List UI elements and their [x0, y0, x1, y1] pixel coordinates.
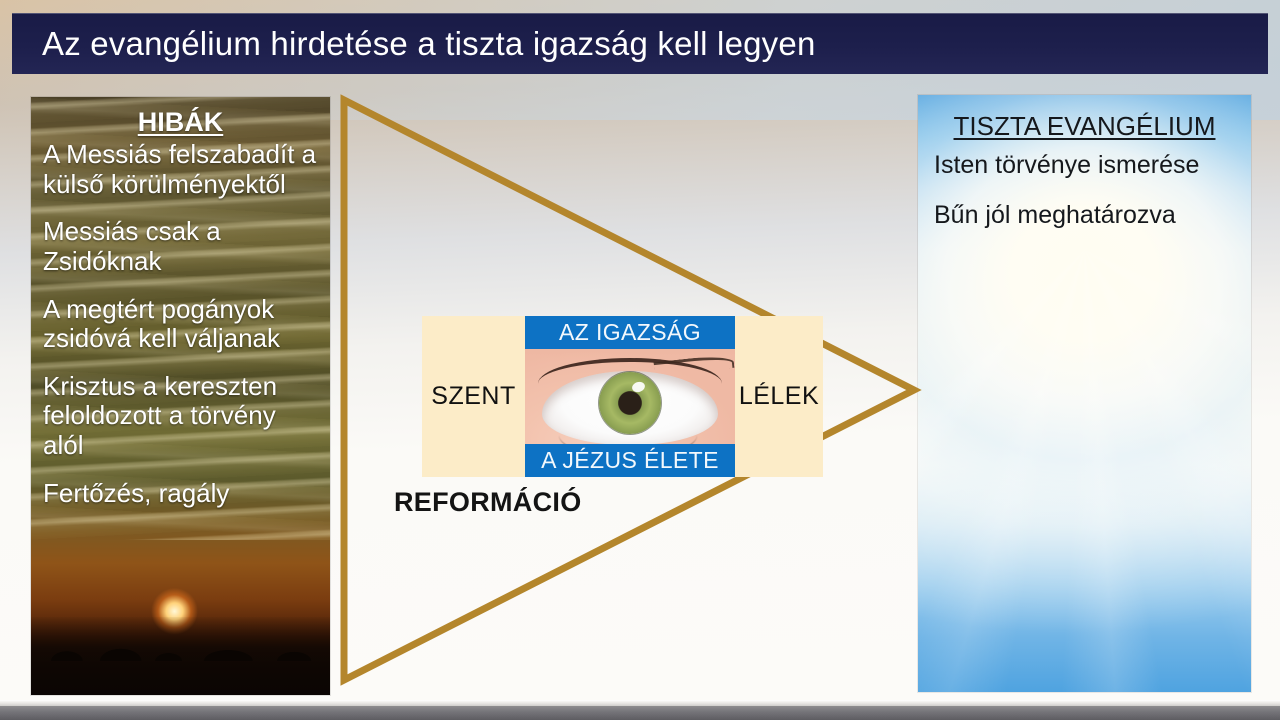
errors-panel-content: HIBÁK A Messiás felszabadít a külső körü…	[31, 97, 330, 695]
errors-item: A Messiás felszabadít a külső körülménye…	[43, 140, 320, 199]
banner-az-igazsag: AZ IGAZSÁG	[525, 316, 735, 349]
errors-item: Fertőzés, ragály	[43, 479, 320, 509]
pure-gospel-panel-content: TISZTA EVANGÉLIUM Isten törvénye ismerés…	[918, 95, 1251, 692]
pure-gospel-item: Isten törvénye ismerése	[934, 150, 1239, 180]
slide-surface: Az evangélium hirdetése a tiszta igazság…	[0, 0, 1280, 706]
holy-spirit-band: SZENT AZ IGAZSÁG A JÉZUS ÉLETE LÉLEK	[422, 316, 823, 477]
pure-gospel-panel: TISZTA EVANGÉLIUM Isten törvénye ismerés…	[918, 95, 1251, 692]
page-title: Az evangélium hirdetése a tiszta igazság…	[42, 25, 816, 63]
pure-gospel-item: Bűn jól meghatározva	[934, 200, 1239, 230]
pure-gospel-heading: TISZTA EVANGÉLIUM	[930, 111, 1239, 142]
slide-stage: Az evangélium hirdetése a tiszta igazság…	[0, 0, 1280, 720]
eye-image-block: AZ IGAZSÁG A JÉZUS ÉLETE	[525, 316, 735, 477]
banner-a-jezus-elete: A JÉZUS ÉLETE	[525, 444, 735, 477]
upper-eyelash-decoration	[538, 358, 723, 384]
label-reformacio: REFORMÁCIÓ	[394, 487, 582, 518]
errors-heading: HIBÁK	[41, 107, 320, 138]
errors-item: Messiás csak a Zsidóknak	[43, 217, 320, 276]
errors-item: Krisztus a kereszten feloldozott a törvé…	[43, 372, 320, 461]
title-bar: Az evangélium hirdetése a tiszta igazság…	[12, 13, 1268, 74]
errors-item: A megtért pogányok zsidóvá kell váljanak	[43, 295, 320, 354]
label-lelek: LÉLEK	[735, 316, 823, 477]
stage-footer-strip	[0, 706, 1280, 720]
label-szent: SZENT	[422, 316, 525, 477]
errors-panel: HIBÁK A Messiás felszabadít a külső körü…	[31, 97, 330, 695]
